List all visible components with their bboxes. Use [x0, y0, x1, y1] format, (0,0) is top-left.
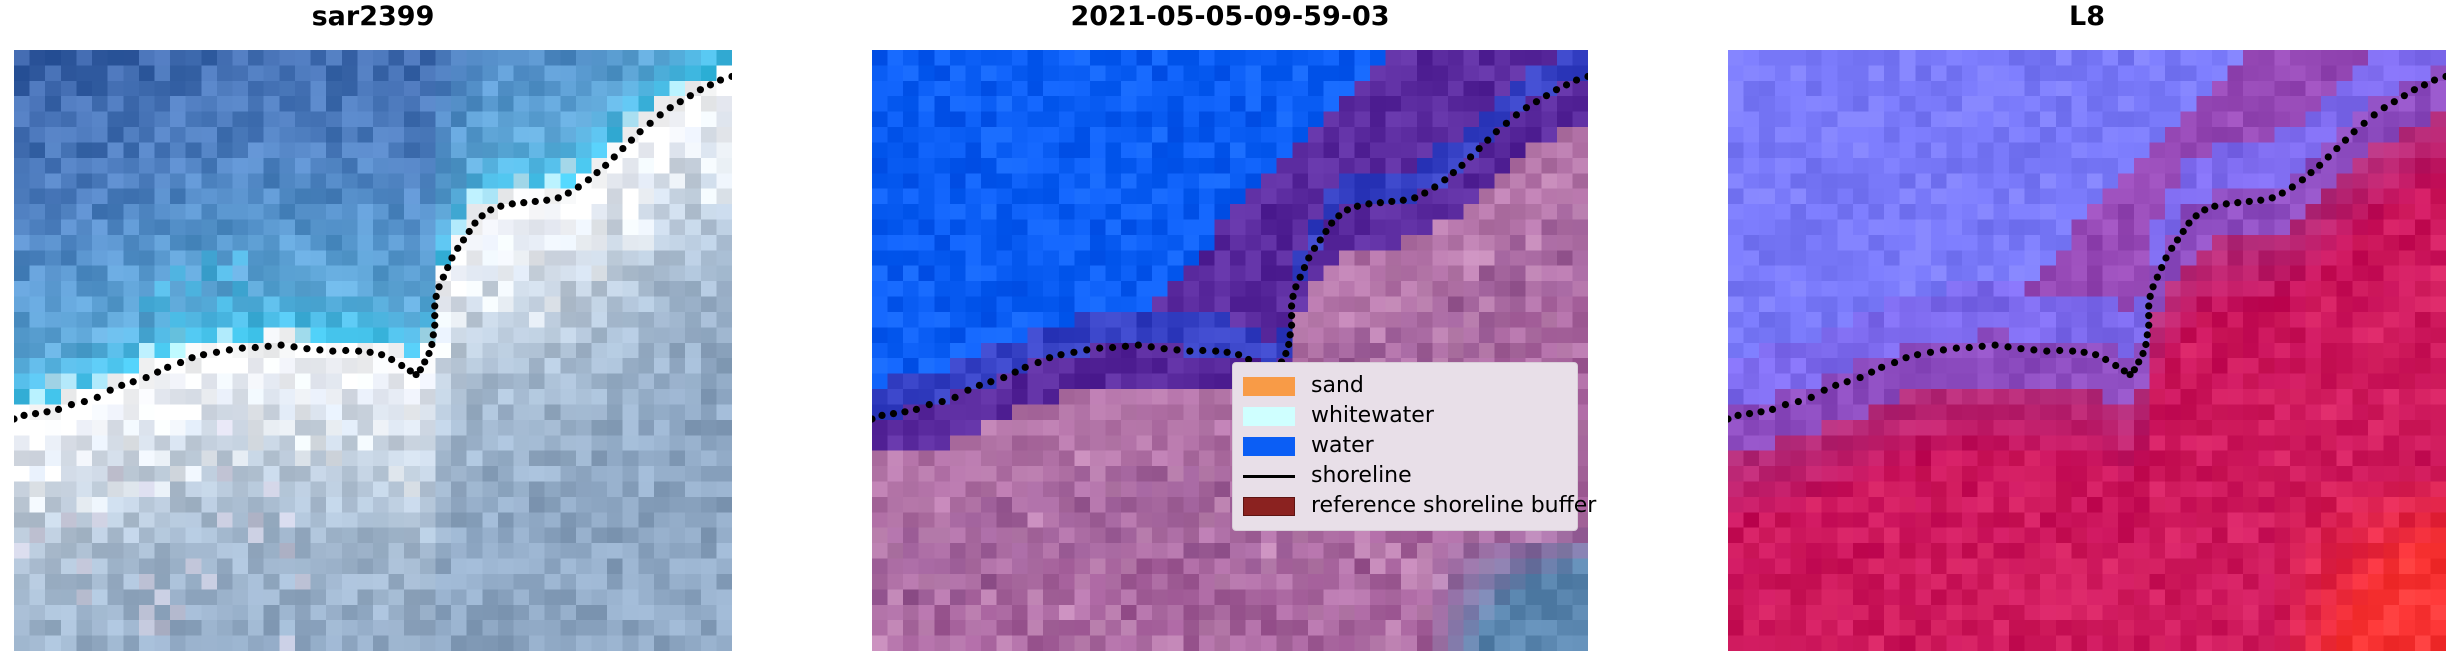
panel-title-classification: 2021-05-05-09-59-03	[872, 0, 1588, 34]
legend-item-water[interactable]: water	[1243, 431, 1567, 461]
sand-color-swatch	[1243, 377, 1295, 396]
satellite-rgb-image	[14, 50, 732, 651]
shoreline-line-swatch	[1243, 475, 1295, 478]
sand-swatch-cell	[1243, 377, 1311, 396]
legend-label-shoreline: shoreline	[1311, 463, 1412, 489]
axes-classification[interactable]	[872, 50, 1588, 651]
water-color-swatch	[1243, 437, 1295, 456]
legend-label-reference-shoreline-buffer: reference shoreline buffer	[1311, 493, 1596, 519]
legend-item-shoreline[interactable]: shoreline	[1243, 461, 1567, 491]
panel-classification: 2021-05-05-09-59-03	[872, 0, 1588, 651]
panel-sar2399: sar2399	[14, 0, 732, 651]
legend-label-water: water	[1311, 433, 1374, 459]
panel-title-sar2399: sar2399	[14, 0, 732, 34]
panel-title-l8: L8	[1728, 0, 2446, 34]
figure-canvas: sar2399 2021-05-05-09-59-03 L8 sand	[0, 0, 2460, 668]
legend-item-whitewater[interactable]: whitewater	[1243, 401, 1567, 431]
whitewater-swatch-cell	[1243, 407, 1311, 426]
water-swatch-cell	[1243, 437, 1311, 456]
legend-label-sand: sand	[1311, 373, 1364, 399]
axes-sar2399[interactable]	[14, 50, 732, 651]
map-legend[interactable]: sand whitewater water shoreline referenc…	[1232, 362, 1578, 531]
reference-buffer-swatch-cell	[1243, 497, 1311, 516]
shoreline-swatch-cell	[1243, 475, 1311, 478]
classification-overlay-image	[872, 50, 1588, 651]
axes-l8[interactable]	[1728, 50, 2446, 651]
landsat8-falsecolor-image	[1728, 50, 2446, 651]
reference-buffer-color-swatch	[1243, 497, 1295, 516]
whitewater-color-swatch	[1243, 407, 1295, 426]
legend-label-whitewater: whitewater	[1311, 403, 1434, 429]
legend-item-sand[interactable]: sand	[1243, 371, 1567, 401]
legend-item-reference-shoreline-buffer[interactable]: reference shoreline buffer	[1243, 491, 1567, 521]
panel-l8: L8	[1728, 0, 2446, 651]
